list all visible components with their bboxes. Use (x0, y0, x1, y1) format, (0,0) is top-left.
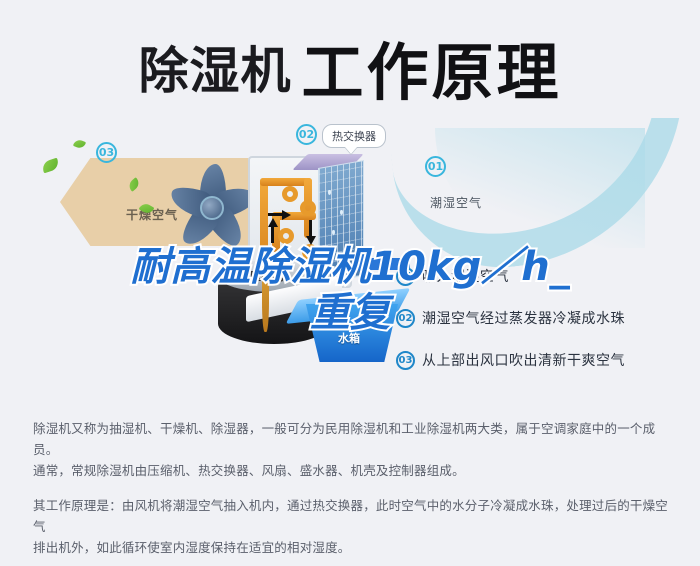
flow-arrow-stem (271, 227, 274, 243)
legend-item: 03 从上部出风口吹出清新干爽空气 (396, 350, 696, 370)
body-copy: 除湿机又称为抽湿机、干燥机、除湿器，一般可分为民用除湿机和工业除湿机两大类，属于… (33, 418, 673, 558)
diagram-badge-03: 03 (96, 142, 117, 163)
legend-badge-01: 01 (396, 267, 415, 286)
humid-air-label: 潮湿空气 (430, 194, 482, 211)
legend-item: 02 潮湿空气经过蒸发器冷凝成水珠 (396, 308, 696, 328)
legend-text-01: 吸入潮湿空气 (422, 266, 509, 286)
diagram-badge-02: 02 (296, 124, 317, 145)
page-title-part-2: 工作原理 (301, 36, 561, 109)
page-title-part-1: 除湿机 (138, 42, 291, 100)
fan-illustration (164, 160, 260, 256)
body-paragraph-2: 通常，常规除湿机由压缩机、热交换器、风扇、盛水器、机壳及控制器组成。 (33, 460, 673, 481)
page-root: 除湿机工作原理 干燥空气 03 (0, 0, 700, 566)
body-paragraph-1: 除湿机又称为抽湿机、干燥机、除湿器，一般可分为民用除湿机和工业除湿机两大类，属于… (33, 418, 673, 460)
legend-text-03: 从上部出风口吹出清新干爽空气 (422, 350, 625, 370)
compressor-label: 压缩机 (250, 268, 283, 284)
diagram-legend: 01 吸入潮湿空气 02 潮湿空气经过蒸发器冷凝成水珠 03 从上部出风口吹出清… (396, 266, 696, 392)
legend-item: 01 吸入潮湿空气 (396, 266, 696, 286)
leaf-icon (73, 138, 86, 150)
paragraph-spacer (33, 481, 673, 495)
illustration-diagram: 干燥空气 03 (0, 118, 700, 403)
body-paragraph-4: 排出机外，如此循环使室内湿度保持在适宜的相对湿度。 (33, 537, 673, 558)
heat-exchanger-callout: 热交换器 (322, 124, 386, 148)
page-title: 除湿机工作原理 (0, 22, 700, 112)
water-tank-label: 水箱 (338, 330, 360, 346)
flow-arrow-stem (268, 213, 284, 216)
fan-hub (200, 196, 224, 220)
flow-arrow-stem (309, 220, 312, 236)
flow-arrow-down-icon (306, 236, 316, 245)
legend-badge-02: 02 (396, 309, 415, 328)
legend-text-02: 潮湿空气经过蒸发器冷凝成水珠 (422, 308, 625, 328)
leaf-icon (41, 158, 61, 174)
legend-badge-03: 03 (396, 351, 415, 370)
body-paragraph-3: 其工作原理是：由风机将潮湿空气抽入机内，通过热交换器，此时空气中的水分子冷凝成水… (33, 495, 673, 537)
flow-arrow-up-icon (268, 218, 278, 227)
diagram-badge-01: 01 (425, 156, 446, 177)
